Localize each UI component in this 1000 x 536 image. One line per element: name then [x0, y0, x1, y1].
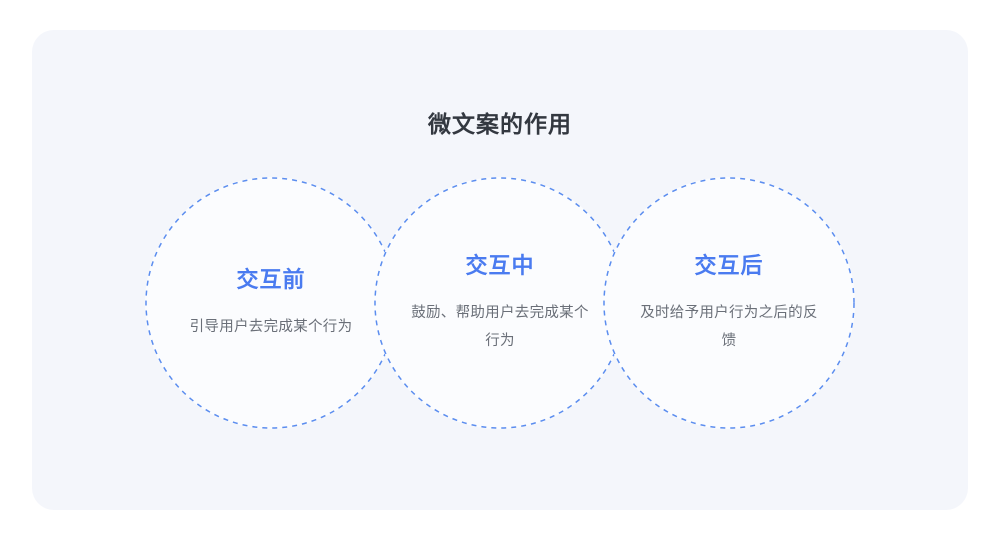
- venn-circle-heading: 交互中: [465, 251, 534, 281]
- venn-circle-before[interactable]: 交互前 引导用户去完成某个行为: [145, 177, 397, 429]
- venn-circle-content: 交互中 鼓励、帮助用户去完成某个行为: [374, 177, 626, 429]
- venn-circle-content: 交互前 引导用户去完成某个行为: [145, 177, 397, 429]
- venn-circle-description: 引导用户去完成某个行为: [179, 313, 363, 341]
- venn-circle-description: 及时给予用户行为之后的反馈: [637, 299, 821, 355]
- diagram-canvas: 微文案的作用 交互前 引导用户去完成某个行为 交互中 鼓励、帮助: [0, 0, 1000, 536]
- page-title: 微文案的作用: [32, 108, 968, 140]
- venn-circle-heading: 交互前: [236, 265, 305, 295]
- venn-circle-during[interactable]: 交互中 鼓励、帮助用户去完成某个行为: [374, 177, 626, 429]
- venn-circle-after[interactable]: 交互后 及时给予用户行为之后的反馈: [603, 177, 855, 429]
- content-card: 微文案的作用 交互前 引导用户去完成某个行为 交互中 鼓励、帮助: [32, 30, 968, 510]
- venn-circle-heading: 交互后: [694, 251, 763, 281]
- venn-circle-content: 交互后 及时给予用户行为之后的反馈: [603, 177, 855, 429]
- venn-circle-description: 鼓励、帮助用户去完成某个行为: [408, 299, 592, 355]
- venn-diagram: 交互前 引导用户去完成某个行为 交互中 鼓励、帮助用户去完成某个行为: [145, 177, 855, 429]
